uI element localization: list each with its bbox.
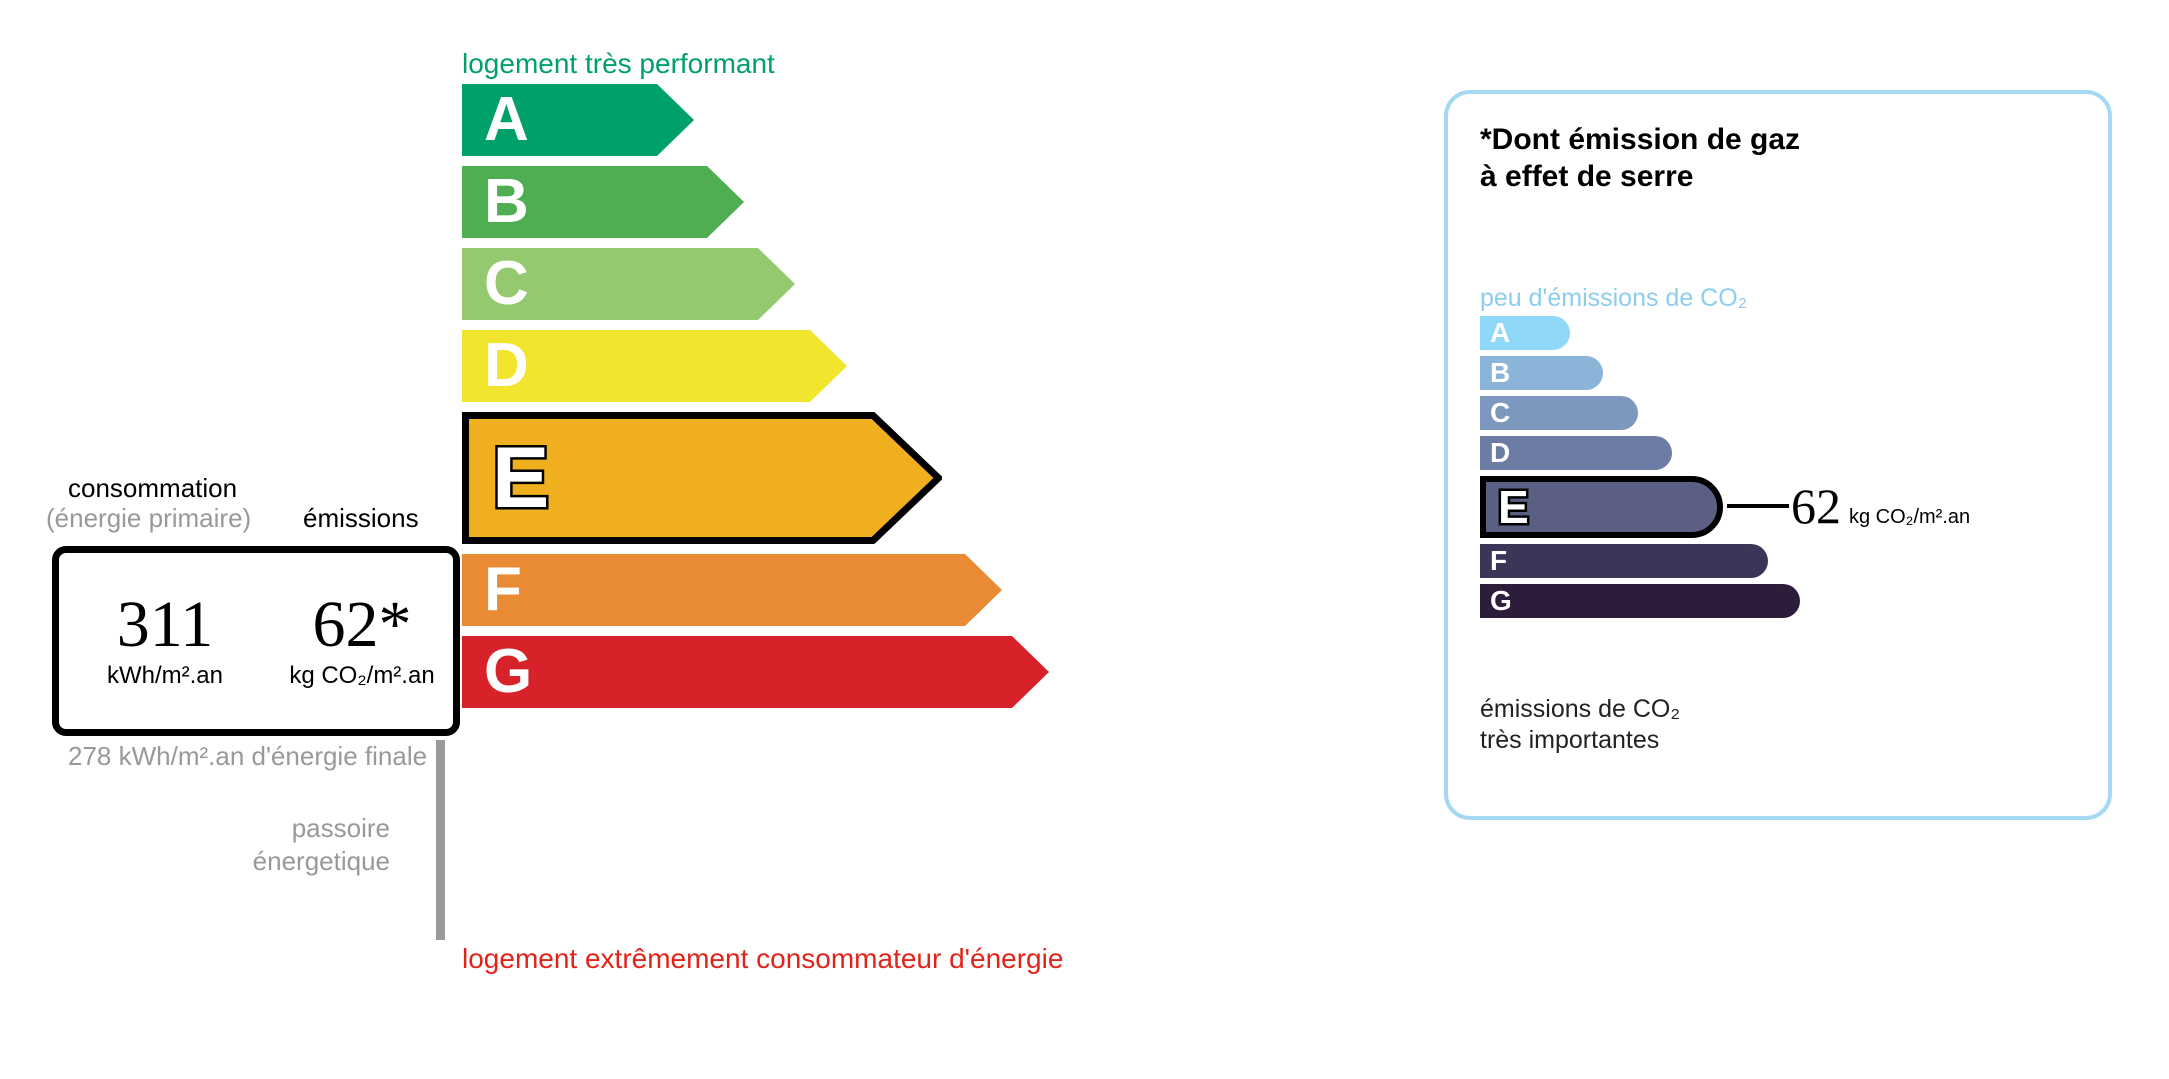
co2-bar-letter: F [1490, 547, 1507, 575]
co2-bar-a: A [1480, 316, 1570, 350]
arrow-letter: D [484, 335, 529, 397]
energy-arrow-e: E [462, 412, 942, 544]
energy-arrow-g: G [462, 636, 1049, 708]
emission-value: 62* [271, 592, 453, 658]
co2-value-callout: 62 kg CO₂/m².an [1727, 481, 1970, 531]
co2-bar-row-g: G [1480, 584, 1800, 618]
arrow-shape-e: E [462, 412, 942, 544]
label-passoire-energetique: passoire énergetique [160, 812, 390, 878]
arrow-letter: E [492, 435, 549, 521]
energy-arrow-d: D [462, 330, 847, 402]
scale-bottom-label: logement extrêmement consommateur d'éner… [462, 943, 1063, 975]
arrow-shape-g: G [462, 636, 1049, 708]
energy-arrow-b: B [462, 166, 744, 238]
arrow-shape-f: F [462, 554, 1002, 626]
co2-bar-row-d: D [1480, 436, 1800, 470]
primary-energy-value: 311 [59, 592, 271, 658]
arrow-letter: G [484, 641, 532, 703]
primary-energy-cell: 311 kWh/m².an [59, 592, 271, 690]
emission-cell: 62* kg CO₂/m².an [271, 592, 453, 690]
primary-energy-unit: kWh/m².an [59, 662, 271, 690]
co2-bar-row-c: C [1480, 396, 1800, 430]
co2-bar-letter: C [1490, 399, 1510, 427]
co2-bar-row-b: B [1480, 356, 1800, 390]
co2-bar-f: F [1480, 544, 1768, 578]
consumption-box: 311 kWh/m².an 62* kg CO₂/m².an [52, 546, 460, 736]
co2-bar-row-f: F [1480, 544, 1800, 578]
energy-scale-chart: logement très performant ABCDEFG consomm… [0, 0, 1380, 1079]
arrow-letter: A [484, 89, 529, 151]
label-emissions: émissions [303, 503, 419, 534]
arrow-letter: F [484, 559, 522, 621]
arrow-shape-a: A [462, 84, 694, 156]
scale-top-label: logement très performant [462, 48, 775, 80]
co2-bar-letter: D [1490, 439, 1510, 467]
co2-top-label: peu d'émissions de CO₂ [1480, 284, 1747, 313]
label-energie-finale: 278 kWh/m².an d'énergie finale [68, 740, 427, 773]
co2-bar-e: E [1480, 476, 1723, 538]
co2-callout-unit: kg CO₂/m².an [1849, 506, 1970, 529]
co2-bar-b: B [1480, 356, 1603, 390]
label-consommation: consommation [68, 473, 237, 504]
co2-emissions-panel: *Dont émission de gaz à effet de serre p… [1444, 90, 2112, 820]
callout-leader-line [1727, 504, 1789, 508]
arrow-shape-d: D [462, 330, 847, 402]
energy-arrow-a: A [462, 84, 694, 156]
co2-callout-value: 62 [1791, 481, 1841, 531]
label-energie-primaire: (énergie primaire) [46, 503, 251, 534]
arrow-shape-b: B [462, 166, 744, 238]
co2-class-bars: ABCDEFG [1480, 316, 1800, 624]
energy-arrow-f: F [462, 554, 1002, 626]
co2-bar-d: D [1480, 436, 1672, 470]
co2-bar-g: G [1480, 584, 1800, 618]
co2-bar-letter: E [1498, 484, 1529, 530]
arrow-letter: B [484, 171, 529, 233]
co2-bar-c: C [1480, 396, 1638, 430]
co2-bar-letter: A [1490, 319, 1510, 347]
passoire-marker-bar [436, 740, 445, 940]
energy-arrow-c: C [462, 248, 795, 320]
co2-bar-letter: G [1490, 587, 1512, 615]
emission-unit: kg CO₂/m².an [271, 662, 453, 690]
co2-bottom-label: émissions de CO₂ très importantes [1480, 694, 1680, 755]
co2-bar-letter: B [1490, 359, 1510, 387]
arrow-shape-c: C [462, 248, 795, 320]
co2-bar-row-a: A [1480, 316, 1800, 350]
arrow-letter: C [484, 253, 529, 315]
co2-panel-title: *Dont émission de gaz à effet de serre [1480, 122, 1800, 195]
